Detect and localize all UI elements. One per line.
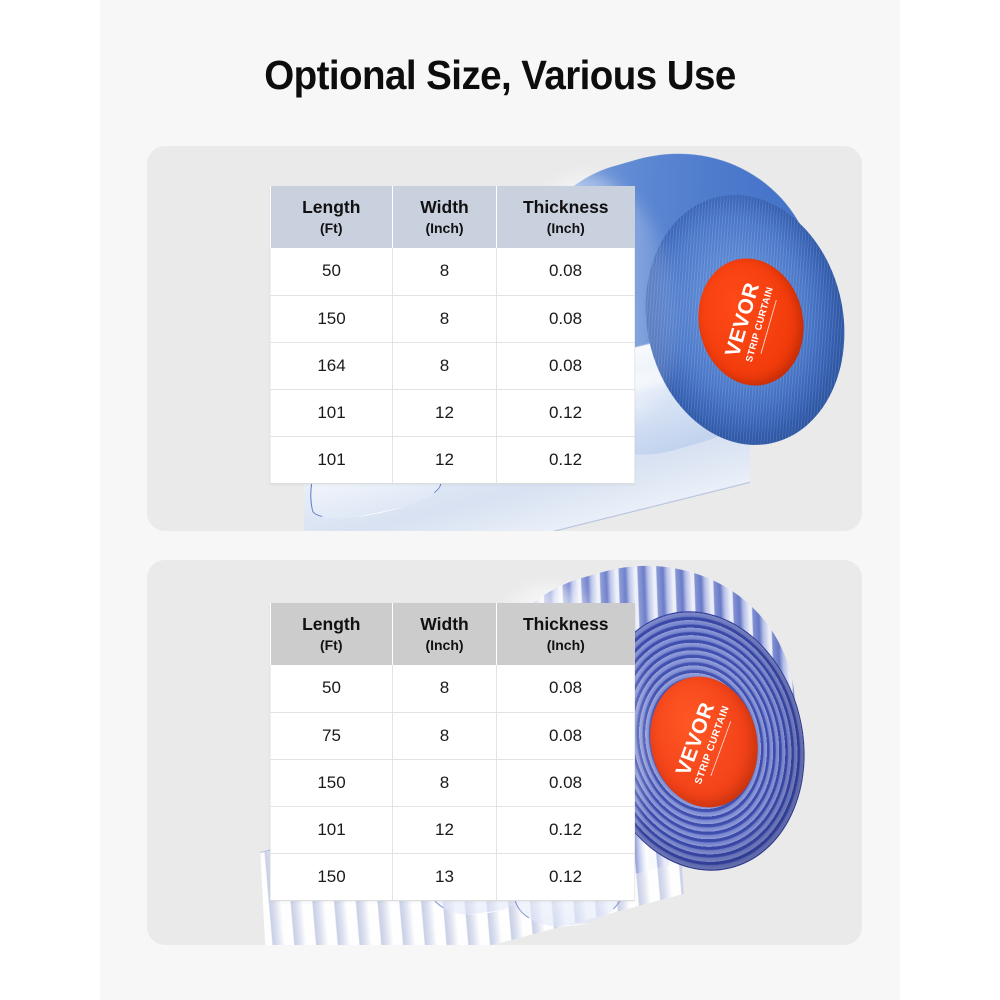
table-row: 164 8 0.08 bbox=[271, 342, 635, 389]
table-row: 50 8 0.08 bbox=[271, 665, 635, 712]
column-header-length: Length (Ft) bbox=[271, 603, 393, 665]
cell-thickness: 0.08 bbox=[497, 759, 635, 806]
column-header-thickness-name: Thickness bbox=[523, 197, 609, 217]
cell-thickness: 0.12 bbox=[497, 389, 635, 436]
table-row: 101 12 0.12 bbox=[271, 436, 635, 483]
cell-length: 150 bbox=[271, 853, 393, 900]
cell-length: 164 bbox=[271, 342, 393, 389]
column-header-width: Width (Inch) bbox=[393, 186, 497, 248]
cell-thickness: 0.08 bbox=[497, 248, 635, 295]
spec-table-2: Length (Ft) Width (Inch) Thickness (Inch… bbox=[270, 603, 635, 901]
column-header-width: Width (Inch) bbox=[393, 603, 497, 665]
cell-width: 12 bbox=[393, 436, 497, 483]
cell-width: 8 bbox=[393, 342, 497, 389]
cell-width: 8 bbox=[393, 295, 497, 342]
spec-card-1: VEVOR STRIP CURTAIN Length (Ft) bbox=[147, 146, 862, 531]
table-row: 150 8 0.08 bbox=[271, 759, 635, 806]
content-panel: Optional Size, Various Use VEVOR STRIP C… bbox=[100, 0, 900, 1000]
table-row: 150 13 0.12 bbox=[271, 853, 635, 900]
cell-length: 50 bbox=[271, 248, 393, 295]
cell-width: 13 bbox=[393, 853, 497, 900]
spec-table-1: Length (Ft) Width (Inch) Thickness (Inch… bbox=[270, 186, 635, 484]
column-header-width-unit: (Inch) bbox=[393, 220, 496, 237]
page-title: Optional Size, Various Use bbox=[124, 52, 876, 99]
cell-length: 150 bbox=[271, 295, 393, 342]
spec-card-2: VEVOR STRIP CURTAIN Length (Ft) bbox=[147, 560, 862, 945]
cell-width: 8 bbox=[393, 248, 497, 295]
table-row: 101 12 0.12 bbox=[271, 389, 635, 436]
cell-length: 150 bbox=[271, 759, 393, 806]
table-header-row: Length (Ft) Width (Inch) Thickness (Inch… bbox=[271, 186, 635, 248]
cell-width: 8 bbox=[393, 712, 497, 759]
column-header-thickness: Thickness (Inch) bbox=[497, 186, 635, 248]
column-header-width-unit: (Inch) bbox=[393, 637, 496, 654]
cell-length: 50 bbox=[271, 665, 393, 712]
column-header-thickness-name: Thickness bbox=[523, 614, 609, 634]
cell-length: 101 bbox=[271, 436, 393, 483]
column-header-width-name: Width bbox=[420, 614, 468, 634]
table-row: 101 12 0.12 bbox=[271, 806, 635, 853]
cell-thickness: 0.12 bbox=[497, 806, 635, 853]
table-header-row: Length (Ft) Width (Inch) Thickness (Inch… bbox=[271, 603, 635, 665]
column-header-length-unit: (Ft) bbox=[271, 220, 393, 237]
column-header-width-name: Width bbox=[420, 197, 468, 217]
cell-thickness: 0.08 bbox=[497, 665, 635, 712]
cell-length: 75 bbox=[271, 712, 393, 759]
cell-length: 101 bbox=[271, 389, 393, 436]
column-header-thickness: Thickness (Inch) bbox=[497, 603, 635, 665]
column-header-length: Length (Ft) bbox=[271, 186, 393, 248]
product-spec-page: Optional Size, Various Use VEVOR STRIP C… bbox=[0, 0, 1000, 1000]
column-header-thickness-unit: (Inch) bbox=[497, 220, 635, 237]
cell-thickness: 0.08 bbox=[497, 712, 635, 759]
cell-width: 8 bbox=[393, 759, 497, 806]
table-row: 50 8 0.08 bbox=[271, 248, 635, 295]
cell-thickness: 0.12 bbox=[497, 436, 635, 483]
table-row: 75 8 0.08 bbox=[271, 712, 635, 759]
column-header-length-name: Length bbox=[302, 614, 360, 634]
cell-length: 101 bbox=[271, 806, 393, 853]
column-header-thickness-unit: (Inch) bbox=[497, 637, 635, 654]
column-header-length-name: Length bbox=[302, 197, 360, 217]
table-row: 150 8 0.08 bbox=[271, 295, 635, 342]
cell-width: 8 bbox=[393, 665, 497, 712]
cell-thickness: 0.12 bbox=[497, 853, 635, 900]
cell-thickness: 0.08 bbox=[497, 295, 635, 342]
column-header-length-unit: (Ft) bbox=[271, 637, 393, 654]
cell-thickness: 0.08 bbox=[497, 342, 635, 389]
cell-width: 12 bbox=[393, 806, 497, 853]
cell-width: 12 bbox=[393, 389, 497, 436]
